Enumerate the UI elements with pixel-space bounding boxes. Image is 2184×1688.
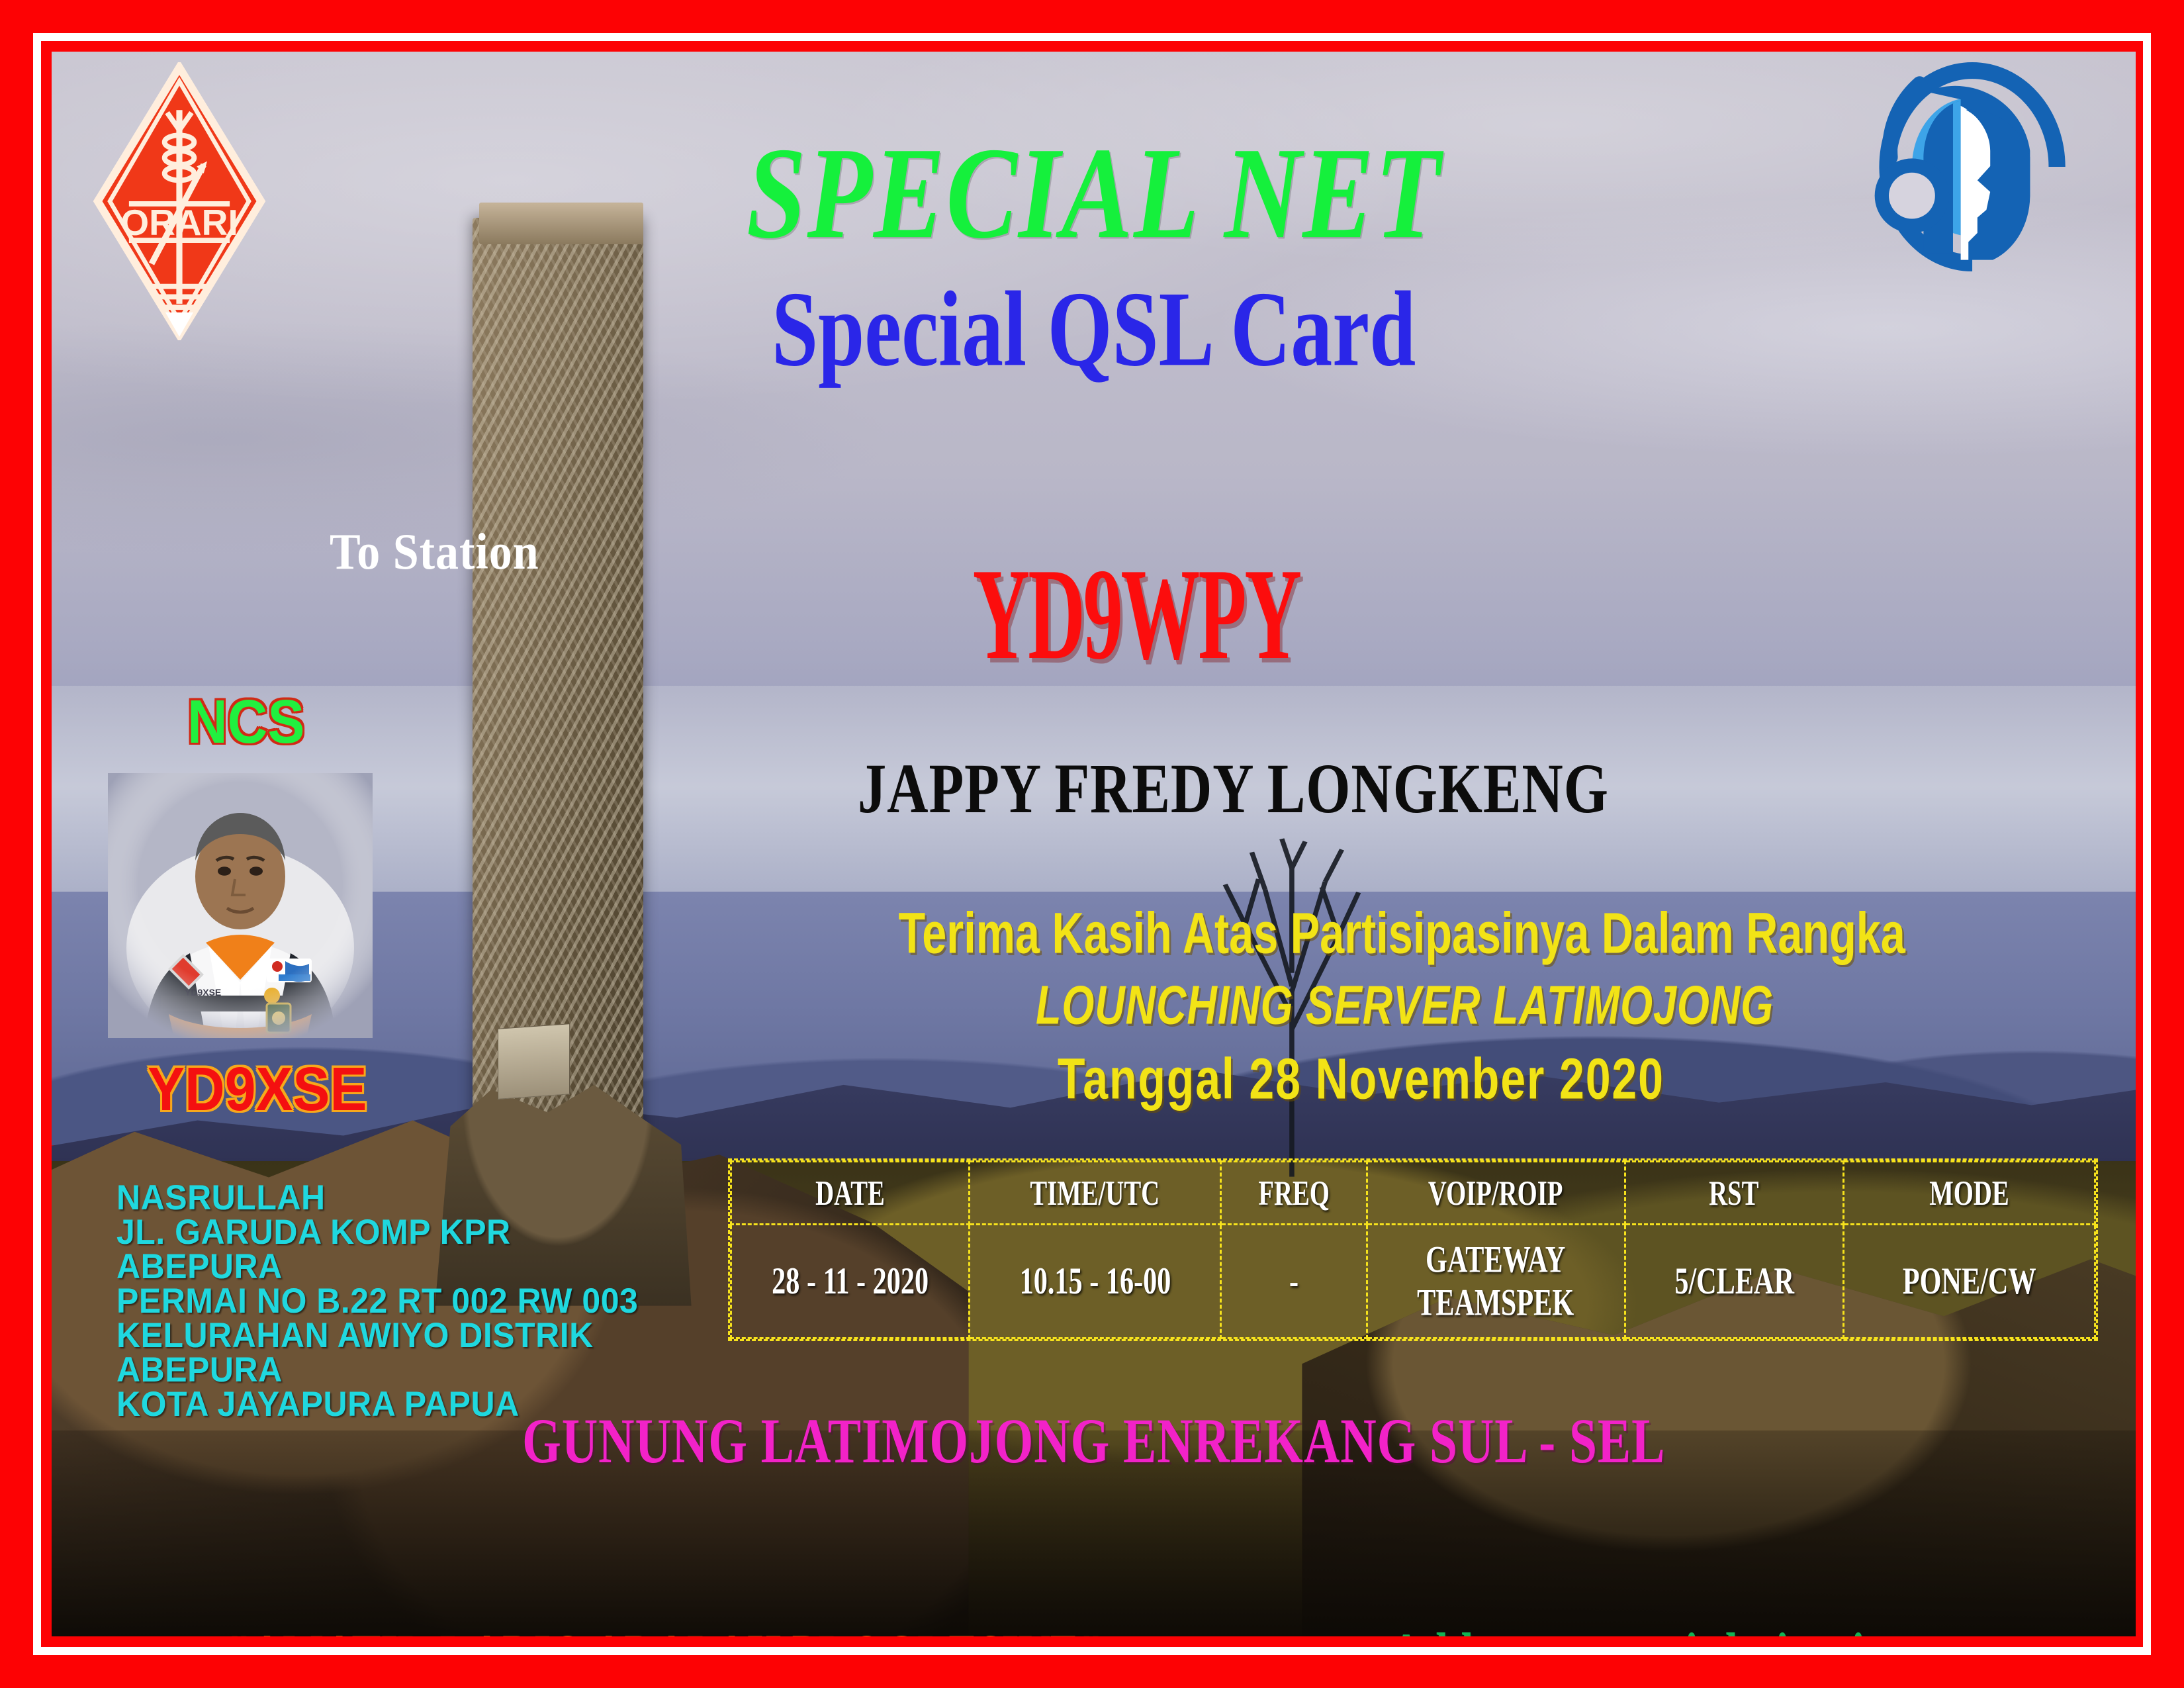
monument-plaque (498, 1023, 570, 1100)
page-title: SPECIAL NET (52, 138, 2136, 249)
cell-time: 10.15 - 16-00 (970, 1225, 1221, 1338)
address-line: ABEPURA (116, 1248, 638, 1284)
page-subtitle: Special QSL Card (52, 283, 2136, 376)
table-header-voip: VOIP/ROIP (1367, 1162, 1625, 1225)
station-callsign: YD9WPY (932, 565, 1341, 664)
station-address: NASRULLAH JL. GARUDA KOMP KPR ABEPURA PE… (116, 1180, 638, 1421)
cell-time-text: 10.15 - 16-00 (1019, 1260, 1171, 1303)
event-line-2: LOUNCHING SERVER LATIMOJONG (995, 982, 1815, 1028)
event-line-3-text: Tanggal 28 November 2020 (1058, 1050, 1664, 1107)
ncs-callsign: YD9XSE (148, 1061, 367, 1117)
table-header-time: TIME/UTC (970, 1162, 1221, 1225)
footer-web-address-text: Address : amatir.latimojong.com (1390, 1624, 2028, 1636)
table-header-freq-text: FREQ (1258, 1174, 1330, 1213)
table-header-mode: MODE (1843, 1162, 2095, 1225)
event-line-3: Tanggal 28 November 2020 (1031, 1055, 1691, 1103)
table-row: 28 - 11 - 2020 10.15 - 16-00 - GATEWAY T… (731, 1225, 2095, 1338)
address-line: KELURAHAN AWIYO DISTRIK (116, 1317, 638, 1353)
ncs-label: NCS (187, 694, 304, 749)
qsl-card: ORARI SPECIAL NET Special QSL Card (0, 0, 2184, 1688)
table-header-freq: FREQ (1221, 1162, 1367, 1225)
cell-rst: 5/CLEAR (1625, 1225, 1843, 1338)
cell-voip-text: GATEWAY TEAMSPEK (1418, 1239, 1574, 1324)
cell-rst-text: 5/CLEAR (1674, 1260, 1794, 1303)
operator-name: JAPPY FREDY LONGKENG (816, 757, 1651, 820)
page-title-text: SPECIAL NET (746, 128, 1441, 259)
qso-table: DATE TIME/UTC FREQ VOIP/ROIP RST MODE 28… (728, 1158, 2098, 1341)
location-text: GUNUNG LATIMOJONG ENREKANG SUL - SEL (522, 1409, 1665, 1474)
address-line: NASRULLAH (116, 1179, 638, 1215)
footer-web-address: Address : amatir.latimojong.com (1329, 1628, 2089, 1636)
cell-freq-text: - (1289, 1260, 1298, 1303)
ncs-operator-portrait: YD9XSE (108, 773, 373, 1038)
table-header-voip-text: VOIP/ROIP (1428, 1174, 1563, 1213)
station-callsign-text: YD9WPY (973, 549, 1300, 680)
ncs-callsign-text: YD9XSE (148, 1058, 367, 1119)
to-station-label: To Station (330, 530, 539, 576)
footer-motto: "AMATIR RADIO ADALAH PROGRESIVE" (131, 1630, 1199, 1636)
event-line-2-text: LOUNCHING SERVER LATIMOJONG (1036, 978, 1774, 1033)
event-line-1-text: Terima Kasih Atas Partisipasinya Dalam R… (899, 904, 1905, 962)
cell-freq: - (1221, 1225, 1367, 1338)
ncs-label-text: NCS (187, 691, 304, 752)
table-header-rst-text: RST (1709, 1174, 1759, 1213)
cell-mode-text: PONE/CW (1903, 1260, 2036, 1303)
location-label: GUNUNG LATIMOJONG ENREKANG SUL - SEL (52, 1414, 2136, 1468)
table-header-row: DATE TIME/UTC FREQ VOIP/ROIP RST MODE (731, 1162, 2095, 1225)
address-line: ABEPURA (116, 1351, 638, 1387)
to-station-text: To Station (330, 528, 539, 579)
table-header-date-text: DATE (815, 1174, 885, 1213)
table-header-rst: RST (1625, 1162, 1843, 1225)
card-photo-area: ORARI SPECIAL NET Special QSL Card (52, 52, 2136, 1636)
table-header-date: DATE (731, 1162, 970, 1225)
page-subtitle-text: Special QSL Card (772, 276, 1416, 383)
operator-name-text: JAPPY FREDY LONGKENG (858, 753, 1609, 824)
table-header-mode-text: MODE (1929, 1174, 2009, 1213)
cell-voip: GATEWAY TEAMSPEK (1367, 1225, 1625, 1338)
table-header-time-text: TIME/UTC (1030, 1174, 1160, 1213)
event-line-1: Terima Kasih Atas Partisipasinya Dalam R… (842, 909, 1961, 958)
footer-motto-text: "AMATIR RADIO ADALAH PROGRESIVE" (227, 1626, 1103, 1636)
address-line: PERMAI NO B.22 RT 002 RW 003 (116, 1282, 638, 1319)
cell-date-text: 28 - 11 - 2020 (772, 1260, 929, 1303)
cell-mode: PONE/CW (1843, 1225, 2095, 1338)
cell-date: 28 - 11 - 2020 (731, 1225, 970, 1338)
address-line: JL. GARUDA KOMP KPR (116, 1213, 638, 1250)
